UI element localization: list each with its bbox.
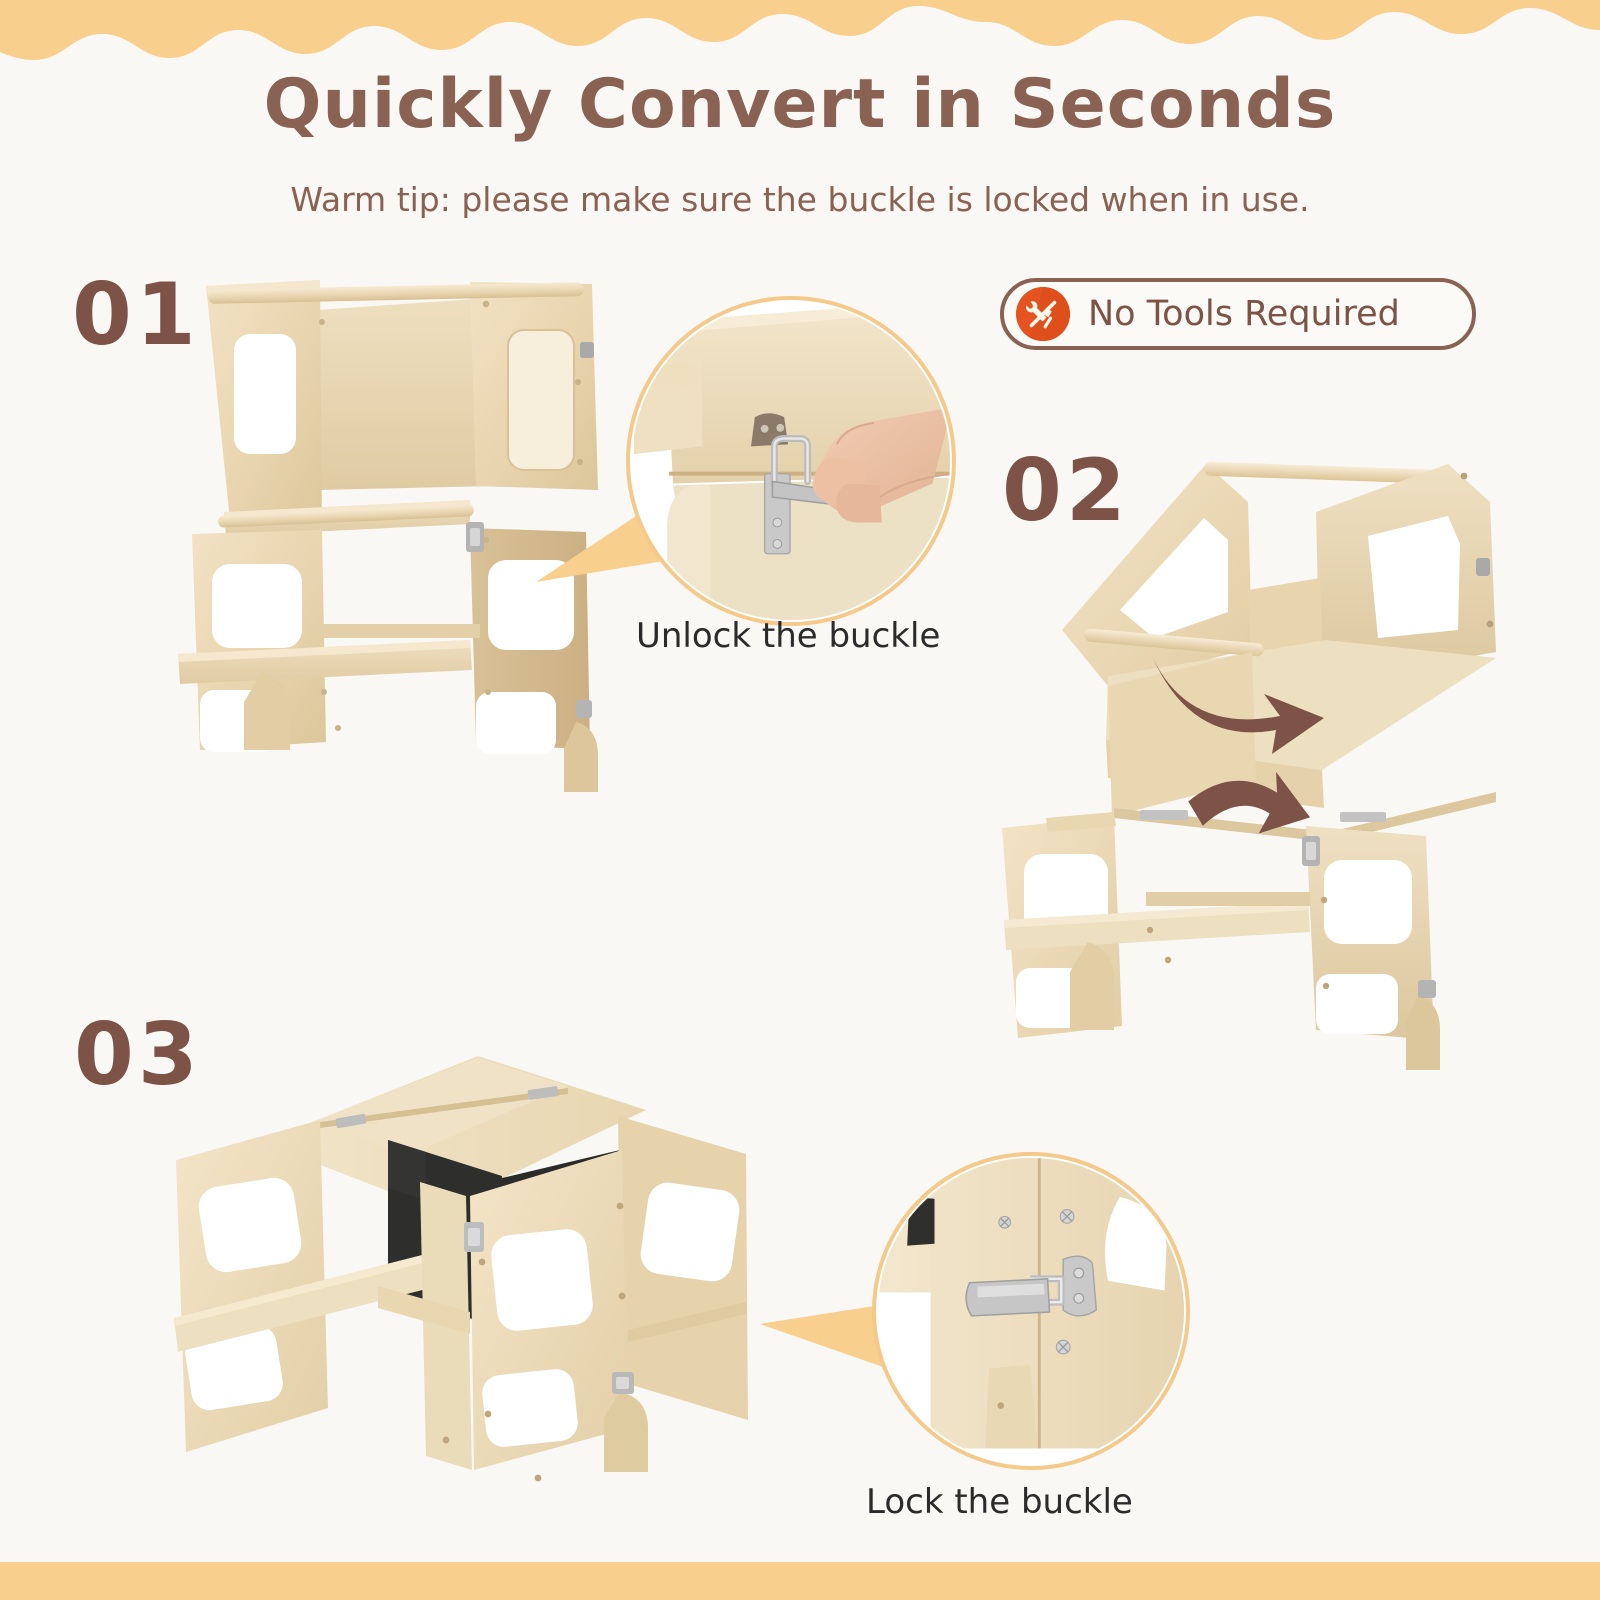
- caption-lock-buckle: Lock the buckle: [866, 1482, 1133, 1522]
- bottom-accent-bar: [0, 1562, 1600, 1600]
- no-tools-required-badge: No Tools Required: [1000, 278, 1476, 350]
- product-image-step-02: [990, 440, 1510, 1100]
- no-tools-icon: [1016, 287, 1070, 341]
- caption-unlock-buckle: Unlock the buckle: [636, 616, 940, 656]
- infographic-page: Quickly Convert in Seconds Warm tip: ple…: [0, 0, 1600, 1600]
- product-image-step-03: [150, 1000, 790, 1520]
- product-image-step-01: [170, 272, 630, 932]
- no-tools-label: No Tools Required: [1088, 294, 1400, 334]
- callout-lock-buckle: [872, 1152, 1190, 1470]
- top-wave-border: [0, 0, 1600, 62]
- page-title: Quickly Convert in Seconds: [0, 62, 1600, 148]
- callout-unlock-buckle: [626, 296, 956, 626]
- page-subtitle: Warm tip: please make sure the buckle is…: [0, 178, 1600, 222]
